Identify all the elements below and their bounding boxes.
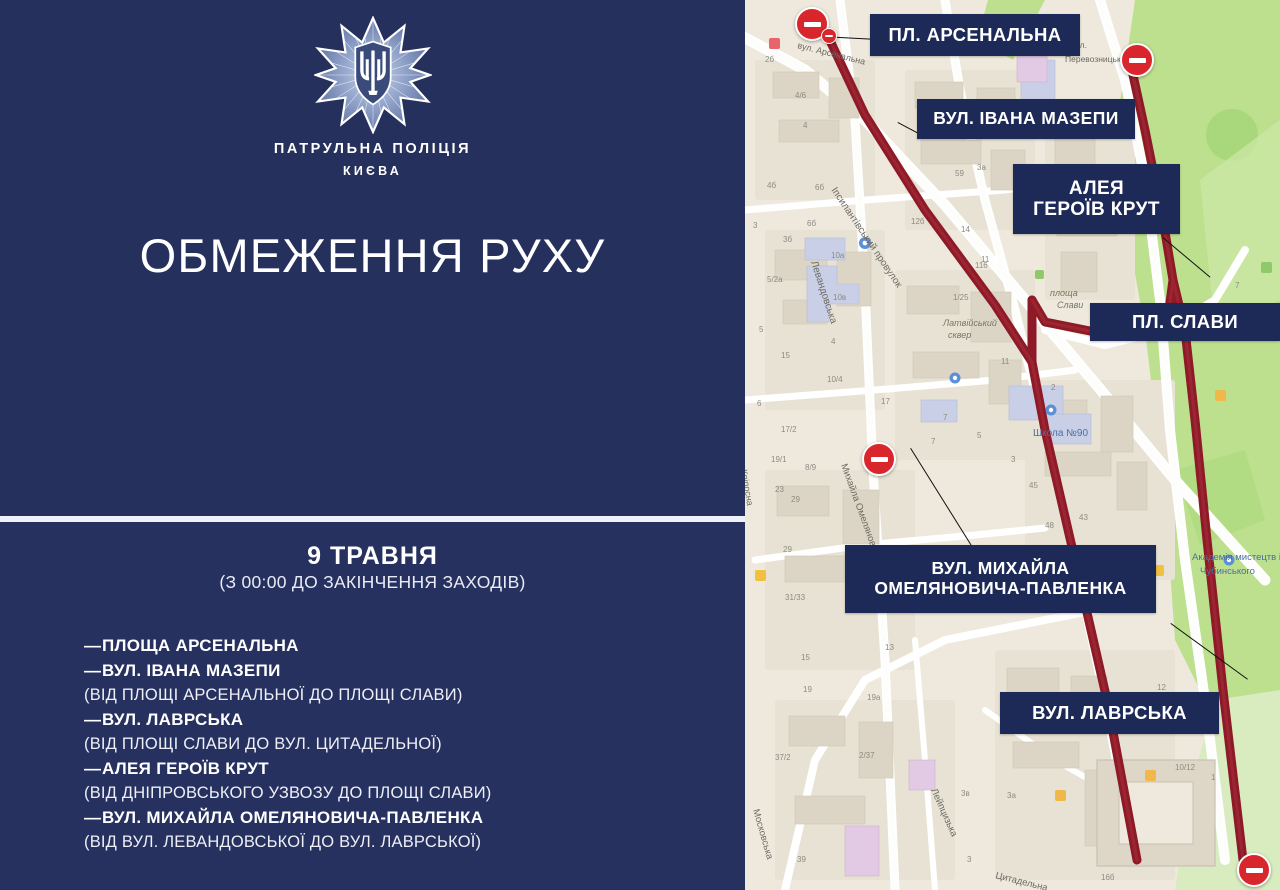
schedule-time: (З 00:00 ДО ЗАКІНЧЕННЯ ЗАХОДІВ) <box>0 572 745 593</box>
svg-text:59: 59 <box>955 169 964 178</box>
map-poi-label: сквер <box>948 330 971 340</box>
list-dash: — <box>84 757 102 781</box>
svg-text:4/6: 4/6 <box>795 91 807 100</box>
street-segment: (ВІД ДНІПРОВСЬКОГО УЗВОЗУ ДО ПЛОЩІ СЛАВИ… <box>84 781 704 805</box>
police-star-emblem-icon <box>314 16 432 134</box>
brand-line-1: ПАТРУЛЬНА ПОЛІЦІЯ <box>0 141 745 157</box>
svg-text:11: 11 <box>1001 357 1010 366</box>
left-info-column: ПАТРУЛЬНА ПОЛІЦІЯ КИЄВА ОБМЕЖЕННЯ РУХУ 9… <box>0 0 745 890</box>
street-name: ВУЛ. ІВАНА МАЗЕПИ <box>102 661 281 680</box>
map-poi-label: Латвійський <box>942 318 997 328</box>
svg-text:2: 2 <box>1051 383 1056 392</box>
street-segment: (ВІД ВУЛ. ЛЕВАНДОВСЬКОЇ ДО ВУЛ. ЛАВРСЬКО… <box>84 830 704 854</box>
street-segment: (ВІД ПЛОЩІ АРСЕНАЛЬНОЇ ДО ПЛОЩІ СЛАВИ) <box>84 683 704 707</box>
svg-text:5: 5 <box>759 325 764 334</box>
svg-text:19: 19 <box>803 685 812 694</box>
restricted-streets-list: —ПЛОЩА АРСЕНАЛЬНА —ВУЛ. ІВАНА МАЗЕПИ (ВІ… <box>84 634 704 855</box>
street-name: ВУЛ. ЛАВРСЬКА <box>102 710 243 729</box>
schedule-date: 9 ТРАВНЯ <box>0 542 745 571</box>
svg-text:23: 23 <box>775 485 784 494</box>
list-dash: — <box>84 659 102 683</box>
street-name: ПЛОЩА АРСЕНАЛЬНА <box>102 636 299 655</box>
svg-text:6б: 6б <box>815 183 824 192</box>
no-entry-sign-icon[interactable] <box>821 28 837 44</box>
no-entry-sign-icon[interactable] <box>1120 43 1154 77</box>
svg-text:4: 4 <box>831 337 836 346</box>
list-item: —ВУЛ. ІВАНА МАЗЕПИ (ВІД ПЛОЩІ АРСЕНАЛЬНО… <box>84 659 704 707</box>
svg-text:1/25: 1/25 <box>953 293 969 302</box>
svg-text:10/12: 10/12 <box>1175 763 1196 772</box>
svg-text:4б: 4б <box>767 181 776 190</box>
svg-text:7: 7 <box>931 437 936 446</box>
brand-line-2: КИЄВА <box>0 164 745 178</box>
svg-text:10в: 10в <box>833 293 846 302</box>
list-dash: — <box>84 708 102 732</box>
svg-text:116: 116 <box>975 261 988 270</box>
map-poi-label: Чубинського <box>1200 566 1255 577</box>
map-poi-label: Слави <box>1057 300 1083 310</box>
svg-text:19/1: 19/1 <box>771 455 787 464</box>
map-callout-vul-mazepy[interactable]: ВУЛ. ІВАНА МАЗЕПИ <box>917 99 1135 139</box>
map-panel[interactable]: вул. Арсенальна пл. Перевозницького Іпси… <box>745 0 1280 890</box>
svg-text:4: 4 <box>803 121 808 130</box>
no-entry-sign-icon[interactable] <box>862 442 896 476</box>
map-callout-vul-lavrska[interactable]: ВУЛ. ЛАВРСЬКА <box>1000 692 1219 734</box>
svg-text:39: 39 <box>797 855 806 864</box>
svg-text:3а: 3а <box>1007 791 1016 800</box>
svg-text:1: 1 <box>1211 773 1216 782</box>
street-name: ВУЛ. МИХАЙЛА ОМЕЛЯНОВИЧА-ПАВЛЕНКА <box>102 808 483 827</box>
svg-text:10а: 10а <box>831 251 845 260</box>
svg-text:2б: 2б <box>765 55 774 64</box>
no-entry-sign-icon[interactable] <box>1237 853 1271 887</box>
map-poi-label: Школа №90 <box>1033 428 1088 439</box>
svg-text:12: 12 <box>1157 683 1166 692</box>
map-callout-pl-arsenalna[interactable]: ПЛ. АРСЕНАЛЬНА <box>870 14 1080 56</box>
svg-text:5/2а: 5/2а <box>767 275 783 284</box>
map-callout-aleya-krut[interactable]: АЛЕЯ ГЕРОЇВ КРУТ <box>1013 164 1180 234</box>
svg-text:15: 15 <box>781 351 790 360</box>
brand-block: ПАТРУЛЬНА ПОЛІЦІЯ КИЄВА <box>0 16 745 178</box>
svg-text:7: 7 <box>943 413 948 422</box>
svg-text:14: 14 <box>961 225 970 234</box>
svg-text:31/33: 31/33 <box>785 593 806 602</box>
svg-text:15: 15 <box>801 653 810 662</box>
map-poi-label: площа <box>1050 288 1078 298</box>
list-item: —ВУЛ. МИХАЙЛА ОМЕЛЯНОВИЧА-ПАВЛЕНКА (ВІД … <box>84 806 704 854</box>
map-callout-vul-omelyanovycha[interactable]: ВУЛ. МИХАЙЛА ОМЕЛЯНОВИЧА-ПАВЛЕНКА <box>845 545 1156 613</box>
svg-text:3б: 3б <box>783 235 792 244</box>
svg-text:6б: 6б <box>807 219 816 228</box>
svg-text:37/2: 37/2 <box>775 753 791 762</box>
infographic-root: ПАТРУЛЬНА ПОЛІЦІЯ КИЄВА ОБМЕЖЕННЯ РУХУ 9… <box>0 0 1280 890</box>
svg-text:6: 6 <box>757 399 762 408</box>
svg-text:5: 5 <box>977 431 982 440</box>
svg-text:45: 45 <box>1029 481 1038 490</box>
svg-text:48: 48 <box>1045 521 1054 530</box>
svg-text:3в: 3в <box>961 789 970 798</box>
street-segment: (ВІД ПЛОЩІ СЛАВИ ДО ВУЛ. ЦИТАДЕЛЬНОЇ) <box>84 732 704 756</box>
page-title: ОБМЕЖЕННЯ РУХУ <box>0 228 745 283</box>
svg-text:3: 3 <box>753 221 758 230</box>
svg-text:16б: 16б <box>1101 873 1115 882</box>
list-dash: — <box>84 634 102 658</box>
street-name: АЛЕЯ ГЕРОЇВ КРУТ <box>102 759 269 778</box>
svg-text:2/37: 2/37 <box>859 751 875 760</box>
svg-text:19а: 19а <box>867 693 881 702</box>
svg-text:3а: 3а <box>977 163 986 172</box>
svg-text:43: 43 <box>1079 513 1088 522</box>
svg-text:17: 17 <box>881 397 890 406</box>
svg-text:7: 7 <box>1235 281 1240 290</box>
svg-text:12б: 12б <box>911 217 925 226</box>
svg-text:10/4: 10/4 <box>827 375 843 384</box>
svg-text:29: 29 <box>791 495 800 504</box>
map-callout-pl-slavy[interactable]: ПЛ. СЛАВИ <box>1090 303 1280 341</box>
list-dash: — <box>84 806 102 830</box>
svg-text:3: 3 <box>967 855 972 864</box>
svg-text:17/2: 17/2 <box>781 425 797 434</box>
map-poi-label: Академія мистецтв і <box>1192 552 1280 563</box>
list-item: —ПЛОЩА АРСЕНАЛЬНА <box>84 634 704 658</box>
svg-text:3: 3 <box>1011 455 1016 464</box>
list-item: —ВУЛ. ЛАВРСЬКА (ВІД ПЛОЩІ СЛАВИ ДО ВУЛ. … <box>84 708 704 756</box>
list-item: —АЛЕЯ ГЕРОЇВ КРУТ (ВІД ДНІПРОВСЬКОГО УЗВ… <box>84 757 704 805</box>
svg-text:13: 13 <box>885 643 894 652</box>
svg-text:29: 29 <box>783 545 792 554</box>
svg-text:8/9: 8/9 <box>805 463 817 472</box>
